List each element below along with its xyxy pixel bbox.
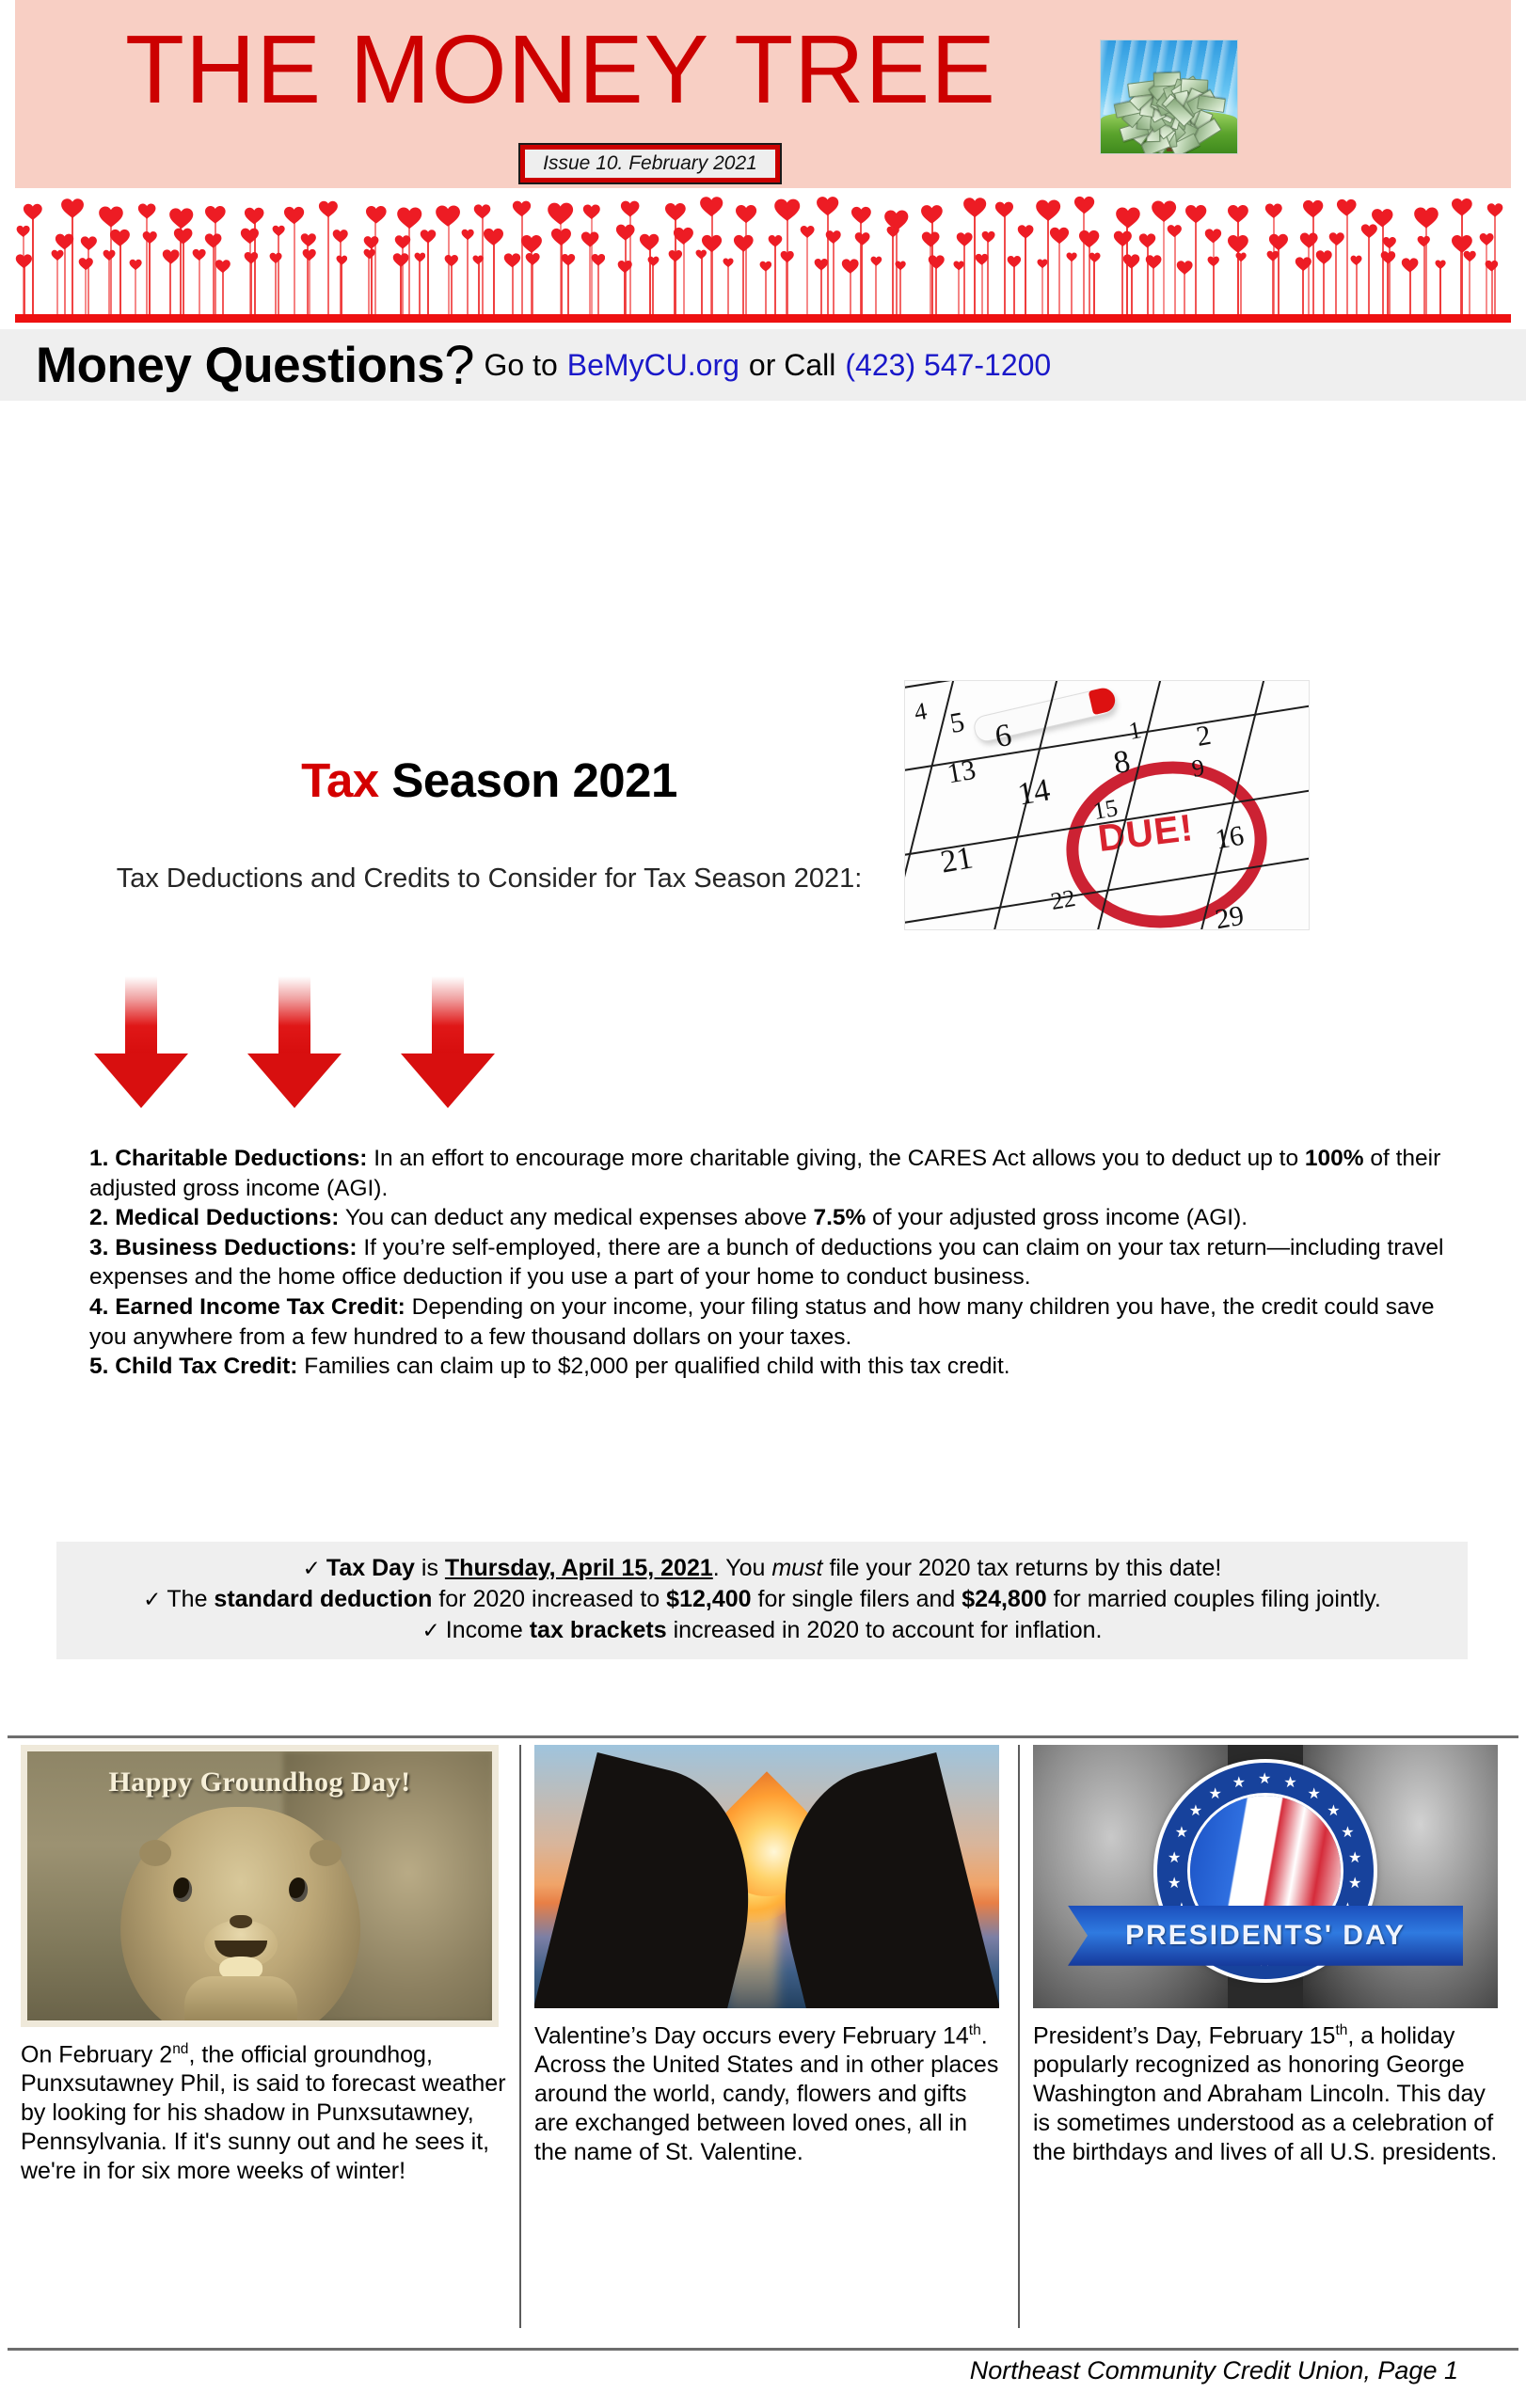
heart-stem [963, 238, 965, 318]
heart-icon [921, 230, 940, 248]
tax-deduction-title: 1. Charitable Deductions: [89, 1146, 367, 1171]
groundhog-eye-left [173, 1877, 192, 1902]
heart-icon [1007, 254, 1022, 269]
heart-stem [108, 254, 110, 318]
heart-stem [1163, 210, 1165, 318]
tax-highlights-box: ✓Tax Day is Thursday, April 15, 2021. Yo… [56, 1542, 1468, 1659]
heart-stem [774, 240, 776, 318]
heart-icon [272, 224, 285, 237]
page-title: THE MONEY TREE [15, 21, 1106, 118]
heart-stem [341, 259, 342, 318]
hl1-t1: is [415, 1555, 445, 1581]
heart-stem [183, 235, 184, 318]
column-groundhog: Happy Groundhog Day! On February 2nd, th… [8, 1745, 519, 2328]
heart-icon [1485, 259, 1499, 273]
heart-icon [620, 198, 640, 218]
presidents-day-ribbon-label: PRESIDENTS' DAY [1125, 1920, 1406, 1952]
calendar-day-number: 14 [1015, 772, 1053, 813]
money-tree-logo-image [1100, 40, 1238, 154]
tax-deduction-body-after: of your adjusted gross income (AGI). [866, 1205, 1248, 1230]
tax-deduction-item: 3. Business Deductions: If you’re self-e… [89, 1233, 1472, 1292]
heart-stem [1083, 203, 1085, 318]
heart-icon [780, 249, 794, 263]
heart-stem [87, 242, 89, 318]
heart-icon [461, 228, 474, 241]
heart-stem [64, 240, 66, 318]
hl1-underline-date: Thursday, April 15, 2021 [445, 1555, 713, 1581]
calendar-day-number: 1 [1126, 716, 1143, 746]
star-icon: ★ [1348, 1851, 1361, 1866]
heart-stem [1025, 230, 1026, 318]
heart-stem [745, 213, 747, 318]
heart-icon [617, 259, 632, 274]
heart-icon [1122, 252, 1140, 270]
heart-icon [129, 258, 142, 271]
heart-icon [1264, 201, 1283, 220]
heart-stem [561, 236, 563, 318]
heart-stem [1312, 208, 1314, 318]
heart-icon [173, 226, 193, 246]
groundhog-body [120, 1807, 360, 2020]
heart-icon [109, 227, 131, 248]
column-valentines: Valentine’s Day occurs every February 14… [519, 1745, 1018, 2328]
presidents-caption: President’s Day, February 15th, a holida… [1033, 2021, 1503, 2167]
question-mark: ? [444, 334, 474, 397]
check-icon: ✓ [422, 1618, 440, 1642]
heart-icon [816, 194, 839, 217]
presidents-text-a: President’s Day, February 15 [1033, 2022, 1335, 2049]
highlight-line-1: ✓Tax Day is Thursday, April 15, 2021. Yo… [83, 1553, 1441, 1584]
column-presidents-day: ★★★★★★★★★★★★★★★★★★★★★★ PRESIDENTS' DAY P… [1018, 1745, 1517, 2328]
heart-icon [336, 254, 348, 266]
heart-icon [283, 204, 305, 226]
hl2-t3: for single filers and [752, 1586, 962, 1612]
heart-icon [80, 234, 98, 252]
heart-icon [582, 202, 601, 221]
heart-icon [1417, 234, 1431, 248]
heart-stem [765, 265, 767, 318]
website-link[interactable]: BeMyCU.org [567, 348, 739, 383]
hl2-b1: standard deduction [214, 1586, 432, 1612]
heart-icon [850, 204, 872, 226]
heart-stem [861, 237, 863, 318]
heart-stem [1041, 263, 1043, 318]
heart-icon [854, 230, 870, 246]
heart-icon [137, 201, 156, 220]
heart-stem [1058, 234, 1060, 318]
heart-stem [521, 207, 523, 318]
calendar-marker-pen [972, 686, 1117, 743]
tax-due-calendar-image: DUE! 456128913141516212229 [904, 680, 1310, 930]
star-icon: ★ [1168, 1877, 1181, 1892]
tax-deduction-body: You can deduct any medical expenses abov… [339, 1205, 813, 1230]
hl2-t1: The [167, 1586, 214, 1612]
heart-icon [473, 202, 491, 220]
calendar-day-number: 4 [912, 697, 929, 727]
heart-icon [975, 252, 989, 266]
tax-deduction-body: Families can claim up to $2,000 per qual… [297, 1354, 1009, 1379]
heart-icon [580, 230, 599, 248]
money-questions-headline: Money Questions [36, 337, 444, 394]
tax-deduction-emphasis: 7.5% [813, 1205, 866, 1230]
heart-stem [327, 208, 329, 318]
heart-icon [895, 260, 906, 271]
down-arrow-icon [401, 976, 495, 1108]
heart-icon [103, 248, 116, 261]
heart-stem [419, 257, 421, 318]
groundhog-photo: Happy Groundhog Day! [27, 1751, 492, 2020]
tax-deduction-title: 2. Medical Deductions: [89, 1205, 339, 1230]
heart-stem [1346, 206, 1348, 318]
heart-icon [1184, 202, 1207, 225]
tax-subheading: Tax Deductions and Credits to Consider f… [103, 862, 875, 896]
down-arrow-icon [247, 976, 342, 1108]
heart-stem [1071, 257, 1073, 318]
heart-stem [930, 238, 931, 318]
heart-stem [820, 263, 822, 318]
heart-icon [269, 251, 282, 264]
valentines-text-a: Valentine’s Day occurs every February 14 [534, 2022, 969, 2049]
valentines-hands-heart-sunset-image [534, 1745, 999, 2008]
heart-stem [875, 261, 877, 318]
heart-icon [981, 230, 995, 244]
heart-icon [773, 196, 801, 223]
heart-stem [1213, 261, 1215, 318]
heart-icon [302, 247, 316, 261]
heart-stem [1423, 240, 1425, 318]
heart-stem [786, 256, 787, 318]
heart-stem [532, 258, 533, 318]
tax-deduction-title: 5. Child Tax Credit: [89, 1354, 297, 1379]
heart-icon [591, 252, 606, 267]
heart-icon [1328, 230, 1345, 247]
heart-icon [192, 247, 206, 261]
calendar-day-number: 13 [945, 754, 978, 791]
page-footer: Northeast Community Credit Union, Page 1 [0, 2356, 1511, 2385]
heart-icon [673, 225, 694, 246]
highlight-line-2: ✓The standard deduction for 2020 increas… [83, 1584, 1441, 1615]
check-icon: ✓ [143, 1587, 161, 1611]
heart-icon [1295, 255, 1312, 273]
calendar-day-number: 16 [1213, 820, 1246, 857]
heart-stem [899, 264, 901, 318]
star-icon: ★ [1168, 1851, 1181, 1866]
issue-label: Issue 10. February 2021 [525, 150, 775, 178]
heart-icon [142, 230, 157, 245]
heart-icon [735, 202, 757, 225]
heart-stem [146, 210, 148, 318]
heart-icon [300, 231, 317, 248]
heart-stem [149, 237, 151, 318]
heart-icon [695, 248, 707, 261]
groundhog-nose [230, 1915, 252, 1928]
heart-stem [1147, 239, 1149, 318]
heart-icon [444, 253, 459, 268]
heart-icon [639, 231, 660, 252]
heart-icon [1401, 256, 1419, 274]
heart-icon [435, 202, 461, 229]
heart-icon [51, 248, 64, 261]
heart-icon [204, 203, 227, 226]
heart-stem [567, 259, 569, 318]
heart-stem [1491, 265, 1493, 318]
heart-stem [275, 257, 277, 318]
heart-icon [1115, 204, 1141, 230]
tax-heading-red: Tax [301, 753, 379, 807]
heart-icon [512, 198, 532, 218]
tax-deduction-item: 4. Earned Income Tax Credit: Depending o… [89, 1292, 1472, 1352]
issue-badge: Issue 10. February 2021 [518, 143, 782, 184]
heart-icon [561, 252, 576, 267]
heart-icon [240, 226, 260, 246]
groundhog-ear-right [310, 1840, 342, 1866]
hl1-bold-taxday: Tax Day [326, 1555, 415, 1581]
heart-icon [1066, 251, 1077, 262]
money-questions-banner: Money Questions? Go to BeMyCU.org or Cal… [0, 329, 1526, 401]
star-icon: ★ [1232, 1776, 1246, 1791]
heart-stem [119, 236, 121, 318]
heart-stem [368, 253, 370, 318]
heart-icon [1035, 197, 1061, 223]
heart-stem [597, 259, 599, 318]
heart-icon [1204, 227, 1222, 245]
heart-icon [733, 232, 755, 254]
happy-groundhog-day-image: Happy Groundhog Day! [21, 1745, 499, 2027]
heart-icon [204, 231, 222, 249]
heart-icon [244, 250, 259, 265]
heart-stem [135, 264, 136, 318]
heart-stem [1093, 257, 1095, 318]
heart-icon [16, 224, 30, 238]
heart-icon [962, 195, 987, 219]
calendar-day-number: 22 [1049, 884, 1078, 916]
divider-top [8, 1735, 1518, 1738]
heart-stem [493, 235, 495, 318]
heart-icon [414, 251, 426, 263]
presidents-day-ribbon: PRESIDENTS' DAY [1068, 1906, 1463, 1966]
heart-stem [1356, 260, 1358, 318]
heart-icon [664, 200, 687, 223]
heart-stem [467, 233, 469, 318]
tax-deduction-title: 3. Business Deductions: [89, 1235, 358, 1260]
heart-icon [615, 222, 635, 242]
heart-stem [451, 260, 453, 318]
heart-icon [1073, 194, 1095, 215]
heart-icon [699, 194, 723, 218]
heart-stem [250, 257, 252, 318]
heart-icon [483, 226, 504, 247]
heart-icon [1151, 198, 1177, 224]
heart-border-decoration [15, 194, 1511, 318]
heart-icon [994, 199, 1014, 219]
heart-icon [15, 252, 33, 270]
heart-icon [23, 201, 43, 222]
heart-stem [1425, 215, 1427, 318]
valentines-ordinal-suffix: th [969, 2022, 981, 2038]
heart-stem [294, 214, 295, 319]
heart-stem [1382, 216, 1384, 318]
groundhog-ordinal-suffix: nd [172, 2041, 188, 2057]
heart-stem [1240, 256, 1242, 318]
heart-icon [244, 205, 264, 226]
heart-stem [589, 238, 591, 318]
heart-icon [363, 247, 376, 261]
hl3-b1: tax brackets [530, 1617, 667, 1643]
heart-stem [833, 236, 835, 318]
groundhog-ear-left [139, 1840, 171, 1866]
groundhog-overlay-text: Happy Groundhog Day! [27, 1766, 492, 1798]
heart-icon [723, 257, 734, 268]
heart-icon [78, 256, 94, 272]
hl2-t4: for married couples filing jointly. [1047, 1586, 1381, 1612]
divider-bottom [8, 2348, 1518, 2351]
heart-icon [1176, 259, 1193, 276]
hl2-b2: $12,400 [666, 1586, 751, 1612]
hl1-italic-must: must [771, 1555, 822, 1581]
heart-stem [649, 241, 651, 318]
heart-stem [1486, 238, 1487, 318]
tax-heading-rest: Season 2021 [379, 753, 677, 807]
hl2-b3: $24,800 [962, 1586, 1046, 1612]
groundhog-paws [184, 1976, 297, 2020]
heart-icon [420, 228, 437, 245]
heart-stem [427, 235, 429, 318]
heart-stem [374, 214, 376, 318]
tax-season-heading: Tax Season 2021 [113, 752, 866, 808]
heart-stem [892, 231, 894, 318]
heart-icon [1299, 230, 1318, 249]
tax-deduction-emphasis: 100% [1305, 1146, 1364, 1171]
heart-stem [1335, 238, 1337, 318]
groundhog-eye-right [289, 1877, 308, 1902]
heart-icon [1266, 249, 1280, 262]
star-icon: ★ [1341, 1826, 1354, 1841]
heart-icon [1463, 249, 1476, 262]
heart-icon [1037, 258, 1048, 269]
heart-icon [814, 257, 829, 272]
newsletter-page: THE MONEY TREE Issue 10. February 2021 M… [0, 0, 1526, 2408]
heart-icon [98, 203, 124, 230]
phone-link[interactable]: (423) 547-1200 [845, 348, 1051, 383]
heart-stem [278, 230, 279, 318]
heart-icon [1336, 197, 1358, 218]
heart-icon [215, 258, 231, 275]
heart-icon [953, 260, 964, 271]
tax-deduction-body: In an effort to encourage more charitabl… [367, 1146, 1304, 1171]
calendar-day-number: 29 [1213, 900, 1246, 930]
star-icon: ★ [1189, 1804, 1202, 1819]
heart-stem [72, 207, 73, 318]
heart-icon [365, 203, 388, 226]
heart-icon [1486, 201, 1503, 218]
groundhog-caption: On February 2nd, the official groundhog,… [21, 2040, 506, 2186]
heart-icon [1207, 255, 1219, 267]
heart-stem [652, 261, 654, 318]
heart-stem [1387, 257, 1389, 318]
star-icon: ★ [1175, 1826, 1188, 1841]
heart-stem [1004, 208, 1006, 318]
heart-stem [1272, 255, 1274, 318]
heart-border-rule [15, 314, 1511, 323]
go-to-label: Go to [485, 348, 558, 383]
heart-icon [1138, 231, 1156, 249]
heart-icon [1235, 251, 1247, 262]
logo-money-canopy [1126, 78, 1213, 151]
tax-deduction-title: 4. Earned Income Tax Credit: [89, 1294, 405, 1320]
down-arrows-group [94, 976, 621, 1108]
tax-deduction-item: 2. Medical Deductions: You can deduct an… [89, 1203, 1472, 1233]
star-icon: ★ [1283, 1776, 1296, 1791]
heart-icon [1302, 198, 1324, 219]
hl1-t3: file your 2020 tax returns by this date! [823, 1555, 1222, 1581]
heart-icon [1167, 223, 1183, 239]
heart-icon [503, 251, 521, 269]
heart-stem [1368, 230, 1370, 318]
heart-stem [981, 259, 983, 318]
heart-stem [213, 240, 215, 318]
heart-icon [1350, 254, 1362, 266]
calendar-day-number: 15 [1091, 794, 1121, 826]
heart-icon [1360, 222, 1378, 240]
highlight-line-3: ✓Income tax brackets increased in 2020 t… [83, 1615, 1441, 1646]
heart-icon [956, 230, 973, 247]
star-icon: ★ [1348, 1877, 1361, 1892]
tax-deduction-item: 5. Child Tax Credit: Families can claim … [89, 1352, 1472, 1382]
heart-icon [1227, 202, 1249, 225]
valentines-caption: Valentine’s Day occurs every February 14… [534, 2021, 1005, 2167]
check-icon: ✓ [303, 1556, 321, 1580]
heart-icon [1113, 229, 1133, 248]
heart-icon [525, 251, 540, 266]
heart-stem [1089, 237, 1090, 318]
hl2-t2: for 2020 increased to [432, 1586, 666, 1612]
hl1-t2: . You [713, 1555, 772, 1581]
heart-icon [759, 260, 772, 273]
heart-icon [928, 253, 946, 271]
heart-stem [701, 254, 703, 318]
heart-stem [806, 230, 808, 318]
presidents-ordinal-suffix: th [1335, 2022, 1347, 2038]
star-icon: ★ [1209, 1787, 1222, 1802]
heart-icon [870, 255, 882, 267]
heart-icon [886, 225, 899, 238]
hl3-t1: Income [446, 1617, 530, 1643]
calendar-day-number: 5 [947, 706, 967, 740]
calendar-day-number: 21 [938, 840, 976, 880]
heart-icon [1145, 253, 1162, 270]
heart-icon [647, 255, 660, 267]
heart-stem [674, 255, 676, 318]
holiday-columns: Happy Groundhog Day! On February 2nd, th… [8, 1745, 1518, 2328]
heart-icon [1413, 204, 1439, 230]
heart-icon [547, 199, 574, 227]
heart-icon [1451, 196, 1473, 218]
heart-icon [1315, 248, 1332, 265]
heart-icon [1049, 225, 1070, 246]
heart-icon [1078, 228, 1100, 249]
heart-stem [309, 254, 310, 318]
heart-stem [1308, 240, 1310, 318]
heart-stem [958, 264, 960, 318]
masthead: THE MONEY TREE Issue 10. February 2021 [15, 0, 1511, 188]
heart-stem [1013, 261, 1015, 318]
heart-icon [394, 233, 411, 250]
heart-stem [56, 255, 58, 318]
or-call-label: or Call [749, 348, 835, 383]
heart-stem [1469, 255, 1470, 318]
heart-stem [1121, 237, 1123, 318]
star-icon: ★ [1258, 1772, 1271, 1787]
